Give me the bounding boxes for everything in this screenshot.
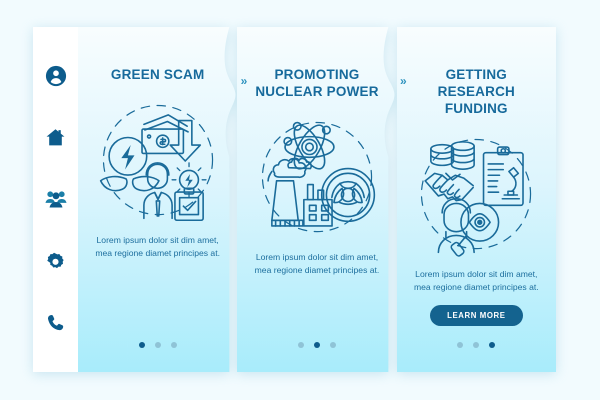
- sidebar-item-phone[interactable]: [45, 312, 67, 334]
- card-title: GREEN SCAM: [111, 67, 205, 84]
- pagination-dot-2[interactable]: [473, 342, 479, 348]
- card-title: GETTING RESEARCH FUNDING: [407, 67, 546, 118]
- pagination-dot-2[interactable]: [155, 342, 161, 348]
- sidebar-item-user[interactable]: [45, 65, 67, 87]
- pagination-dot-2[interactable]: [314, 342, 320, 348]
- onboarding-card-research-funding[interactable]: GETTING RESEARCH FUNDING: [397, 27, 556, 372]
- pagination-dot-3[interactable]: [489, 342, 495, 348]
- research-funding-illustration: [410, 132, 542, 258]
- onboarding-card-nuclear-power[interactable]: PROMOTING NUCLEAR POWER: [237, 27, 396, 372]
- phone-icon: [46, 313, 66, 333]
- chevron-separator-icon: »: [400, 74, 406, 88]
- card-body-text: Lorem ipsum dolor sit dim amet, mea regi…: [89, 234, 227, 261]
- pagination-dot-1[interactable]: [139, 342, 145, 348]
- sidebar: [33, 27, 78, 372]
- pagination-dot-1[interactable]: [298, 342, 304, 348]
- sidebar-item-home[interactable]: [45, 127, 67, 149]
- card-title: PROMOTING NUCLEAR POWER: [247, 67, 386, 101]
- home-icon: [45, 127, 66, 148]
- pagination-dots: [237, 342, 396, 348]
- pagination-dot-1[interactable]: [457, 342, 463, 348]
- nuclear-power-illustration: [251, 115, 383, 241]
- pagination-dots: [78, 342, 237, 348]
- chevron-separator-icon: »: [241, 74, 247, 88]
- onboarding-card-green-scam[interactable]: GREEN SCAM: [78, 27, 237, 372]
- pagination-dot-3[interactable]: [171, 342, 177, 348]
- card-body-text: Lorem ipsum dolor sit dim amet, mea regi…: [407, 268, 545, 295]
- sidebar-item-people[interactable]: [45, 188, 67, 210]
- green-scam-illustration: [92, 98, 224, 224]
- onboarding-template: GREEN SCAM: [33, 27, 556, 372]
- learn-more-button[interactable]: LEARN MORE: [430, 305, 522, 326]
- user-icon: [45, 65, 67, 87]
- pagination-dot-3[interactable]: [330, 342, 336, 348]
- people-icon: [45, 189, 67, 209]
- onboarding-cards: GREEN SCAM: [78, 27, 556, 372]
- sidebar-item-settings[interactable]: [45, 250, 67, 272]
- pagination-dots: [397, 342, 556, 348]
- gear-icon: [45, 251, 66, 272]
- card-body-text: Lorem ipsum dolor sit dim amet, mea regi…: [248, 251, 386, 278]
